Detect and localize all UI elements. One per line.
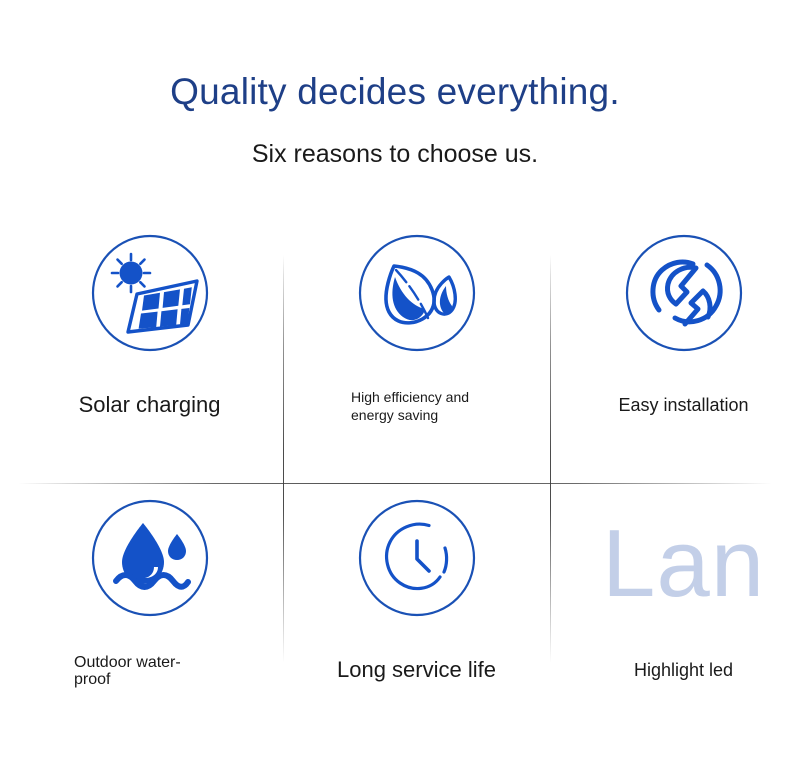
icon-container [283,497,550,619]
feature-cell-high-efficiency: High efficiency and energy saving [283,232,550,482]
feature-label-solar-charging: Solar charging [16,392,283,419]
heading-block: Quality decides everything. Six reasons … [0,0,790,169]
feature-cell-easy-installation: Easy installation [550,232,790,482]
page-title: Quality decides everything. [0,0,790,114]
page-subtitle: Six reasons to choose us. [0,114,790,169]
icon-container [550,232,790,354]
promo-banner: Quality decides everything. Six reasons … [0,0,790,772]
solar-panel-icon [89,232,211,354]
feature-label-long-service-life: Long service life [283,657,550,684]
icon-container [16,232,283,354]
wrench-icon [623,232,745,354]
feature-label-high-efficiency: High efficiency and energy saving [283,389,550,425]
feature-label-easy-installation: Easy installation [550,395,790,417]
feature-grid: Solar charging High effic [0,232,790,752]
feature-label-highlight-led: Highlight led [550,660,790,682]
leaf-icon [356,232,478,354]
feature-cell-solar-charging: Solar charging [16,232,283,482]
feature-cell-highlight-led: Highlight led [550,497,790,747]
feature-cell-outdoor-waterproof: Outdoor water- proof [16,497,283,747]
water-drop-icon [89,497,211,619]
icon-container [283,232,550,354]
icon-container [16,497,283,619]
clock-icon [356,497,478,619]
feature-label-outdoor-waterproof: Outdoor water- proof [16,655,283,689]
feature-cell-long-service-life: Long service life [283,497,550,747]
